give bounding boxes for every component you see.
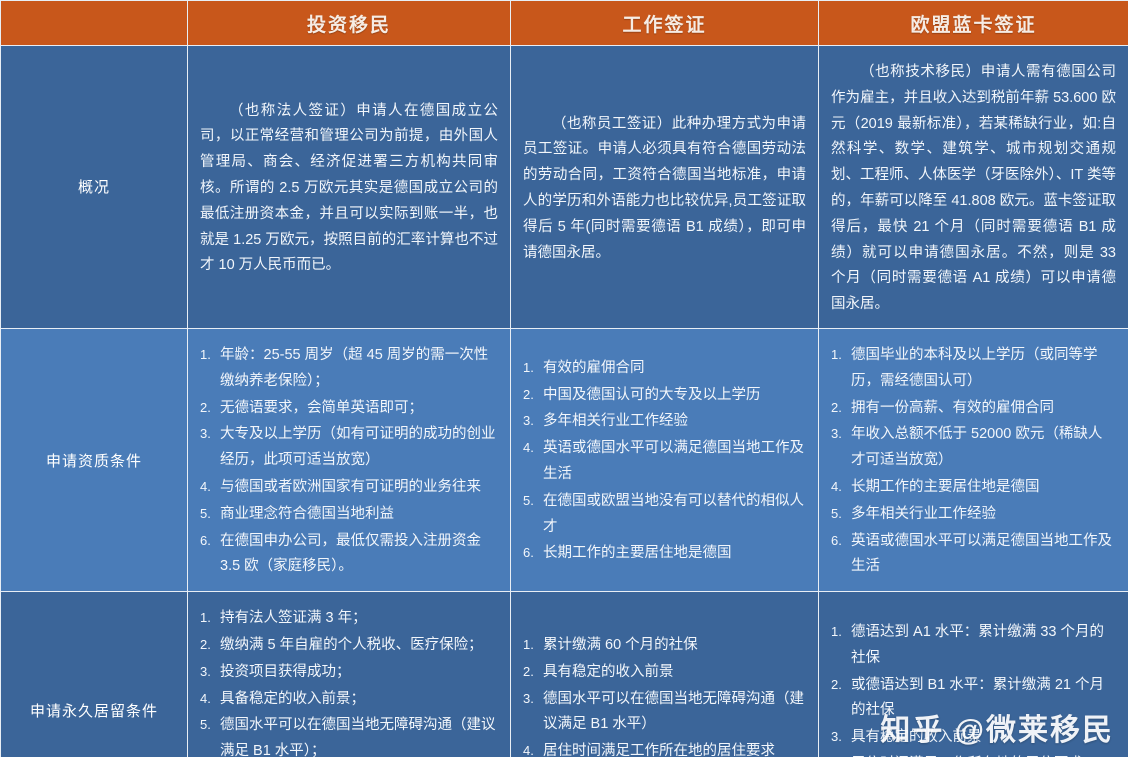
row-label-permanent-residence: 申请永久居留条件	[1, 592, 188, 757]
paragraph-text: （也称员工签证）此种办理方式为申请员工签证。申请人必须具有符合德国劳动法的劳动合…	[523, 112, 806, 267]
list-item-text: 拥有一份高薪、有效的雇佣合同	[851, 400, 1054, 416]
list-item-text: 缴纳满 5 年自雇的个人税收、医疗保险；	[220, 637, 483, 653]
list-item: 4.居住时间满足工作所在地的居住要求	[523, 739, 806, 757]
list-item: 4.具备稳定的收入前景；	[200, 687, 498, 713]
cell-qualification-investment: 1.年龄：25-55 周岁（超 45 周岁的需一次性缴纳养老保险）；2.无德语要…	[188, 328, 511, 591]
list-item-text: 长期工作的主要居住地是德国	[543, 545, 732, 561]
list-item-number: 3.	[523, 409, 543, 432]
list-item-text: 无德语要求，会简单英语即可；	[220, 400, 423, 416]
list-item-number: 5.	[523, 489, 543, 512]
list-item-number: 1.	[523, 356, 543, 379]
table-body: 概况 （也称法人签证）申请人在德国成立公司，以正常经营和管理公司为前提，由外国人…	[1, 46, 1128, 757]
list-item-number: 3.	[200, 660, 220, 683]
list-item-text: 持有法人签证满 3 年；	[220, 610, 367, 626]
list-item: 5.多年相关行业工作经验	[831, 502, 1116, 528]
list-item: 1.持有法人签证满 3 年；	[200, 606, 498, 632]
list-item: 2.中国及德国认可的大专及以上学历	[523, 383, 806, 409]
list-item-number: 1.	[831, 343, 851, 366]
comparison-table-page: 投资移民 工作签证 欧盟蓝卡签证 概况 （也称法人签证）申请人在德国成立公司，以…	[0, 0, 1128, 757]
header-col-eu-blue-card: 欧盟蓝卡签证	[819, 1, 1128, 46]
list-item-number: 4.	[200, 475, 220, 498]
list-item-number: 4.	[523, 436, 543, 459]
list-item-text: 具备稳定的收入前景；	[220, 691, 365, 707]
cell-overview-investment: （也称法人签证）申请人在德国成立公司，以正常经营和管理公司为前提，由外国人管理局…	[188, 46, 511, 329]
requirement-list: 1.年龄：25-55 周岁（超 45 周岁的需一次性缴纳养老保险）；2.无德语要…	[200, 343, 498, 580]
list-item: 3.多年相关行业工作经验	[523, 409, 806, 435]
list-item-number: 4.	[523, 739, 543, 757]
list-item-number: 4.	[200, 687, 220, 710]
header-col-investment-immigration: 投资移民	[188, 1, 511, 46]
list-item: 2.无德语要求，会简单英语即可；	[200, 396, 498, 422]
list-item-text: 或德语达到 B1 水平：累计缴满 21 个月的社保	[851, 677, 1104, 719]
list-item-text: 具有稳定的收入前景	[543, 664, 674, 680]
list-item-text: 在德国或欧盟当地没有可以替代的相似人才	[543, 493, 804, 535]
list-item: 1.德国毕业的本科及以上学历（或同等学历，需经德国认可）	[831, 343, 1116, 395]
row-label-overview: 概况	[1, 46, 188, 329]
list-item: 6.长期工作的主要居住地是德国	[523, 541, 806, 567]
list-item: 6.英语或德国水平可以满足德国当地工作及生活	[831, 529, 1116, 581]
list-item-number: 6.	[200, 529, 220, 552]
table-header: 投资移民 工作签证 欧盟蓝卡签证	[1, 1, 1128, 46]
list-item-number: 3.	[831, 422, 851, 445]
list-item: 3.德国水平可以在德国当地无障碍沟通（建议满足 B1 水平）	[523, 687, 806, 739]
list-item-number: 2.	[831, 396, 851, 419]
cell-pr-bluecard: 1.德语达到 A1 水平：累计缴满 33 个月的社保2.或德语达到 B1 水平：…	[819, 592, 1128, 757]
list-item-text: 具有稳定的收入前景	[851, 729, 982, 745]
list-item-number: 2.	[200, 396, 220, 419]
list-item-number: 2.	[523, 383, 543, 406]
cell-overview-bluecard: （也称技术移民）申请人需有德国公司作为雇主，并且收入达到税前年薪 53.600 …	[819, 46, 1128, 329]
list-item-text: 中国及德国认可的大专及以上学历	[543, 387, 761, 403]
list-item: 1.年龄：25-55 周岁（超 45 周岁的需一次性缴纳养老保险）；	[200, 343, 498, 395]
list-item: 4.英语或德国水平可以满足德国当地工作及生活	[523, 436, 806, 488]
cell-pr-investment: 1.持有法人签证满 3 年；2.缴纳满 5 年自雇的个人税收、医疗保险；3.投资…	[188, 592, 511, 757]
list-item: 3.投资项目获得成功；	[200, 660, 498, 686]
cell-overview-work: （也称员工签证）此种办理方式为申请员工签证。申请人必须具有符合德国劳动法的劳动合…	[511, 46, 819, 329]
list-item: 3.年收入总额不低于 52000 欧元（稀缺人才可适当放宽）	[831, 422, 1116, 474]
table-row: 申请资质条件 1.年龄：25-55 周岁（超 45 周岁的需一次性缴纳养老保险）…	[1, 328, 1128, 591]
list-item-text: 年收入总额不低于 52000 欧元（稀缺人才可适当放宽）	[851, 426, 1102, 468]
list-item-text: 在德国申办公司，最低仅需投入注册资金 3.5 欧（家庭移民）。	[220, 533, 481, 575]
header-corner-cell	[1, 1, 188, 46]
list-item-text: 商业理念符合德国当地利益	[220, 506, 394, 522]
list-item-number: 1.	[523, 633, 543, 656]
list-item-number: 2.	[523, 660, 543, 683]
list-item: 4.居住时间满足工作所在地的居住要求	[831, 752, 1116, 757]
header-col-work-visa: 工作签证	[511, 1, 819, 46]
list-item-text: 年龄：25-55 周岁（超 45 周岁的需一次性缴纳养老保险）；	[220, 347, 488, 389]
paragraph-text: （也称技术移民）申请人需有德国公司作为雇主，并且收入达到税前年薪 53.600 …	[831, 60, 1116, 318]
row-label-qualification: 申请资质条件	[1, 328, 188, 591]
list-item-number: 3.	[831, 725, 851, 748]
list-item-number: 5.	[831, 502, 851, 525]
list-item-text: 大专及以上学历（如有可证明的成功的创业经历，此项可适当放宽）	[220, 426, 496, 468]
requirement-list: 1.持有法人签证满 3 年；2.缴纳满 5 年自雇的个人税收、医疗保险；3.投资…	[200, 606, 498, 757]
list-item: 1.有效的雇佣合同	[523, 356, 806, 382]
list-item: 5.在德国或欧盟当地没有可以替代的相似人才	[523, 489, 806, 541]
table-row: 申请永久居留条件 1.持有法人签证满 3 年；2.缴纳满 5 年自雇的个人税收、…	[1, 592, 1128, 757]
requirement-list: 1.德语达到 A1 水平：累计缴满 33 个月的社保2.或德语达到 B1 水平：…	[831, 620, 1116, 757]
list-item: 3.具有稳定的收入前景	[831, 725, 1116, 751]
list-item-text: 累计缴满 60 个月的社保	[543, 637, 698, 653]
list-item-number: 5.	[200, 713, 220, 736]
list-item-number: 4.	[831, 752, 851, 757]
list-item: 2.具有稳定的收入前景	[523, 660, 806, 686]
list-item: 4.与德国或者欧洲国家有可证明的业务往来	[200, 475, 498, 501]
table-row: 概况 （也称法人签证）申请人在德国成立公司，以正常经营和管理公司为前提，由外国人…	[1, 46, 1128, 329]
paragraph-text: （也称法人签证）申请人在德国成立公司，以正常经营和管理公司为前提，由外国人管理局…	[200, 99, 498, 280]
cell-pr-work: 1.累计缴满 60 个月的社保2.具有稳定的收入前景3.德国水平可以在德国当地无…	[511, 592, 819, 757]
list-item-text: 与德国或者欧洲国家有可证明的业务往来	[220, 479, 481, 495]
list-item-number: 4.	[831, 475, 851, 498]
list-item-number: 6.	[831, 529, 851, 552]
list-item-number: 3.	[523, 687, 543, 710]
list-item: 6.在德国申办公司，最低仅需投入注册资金 3.5 欧（家庭移民）。	[200, 529, 498, 581]
list-item-text: 德国毕业的本科及以上学历（或同等学历，需经德国认可）	[851, 347, 1098, 389]
list-item: 2.拥有一份高薪、有效的雇佣合同	[831, 396, 1116, 422]
list-item: 2.缴纳满 5 年自雇的个人税收、医疗保险；	[200, 633, 498, 659]
visa-comparison-table: 投资移民 工作签证 欧盟蓝卡签证 概况 （也称法人签证）申请人在德国成立公司，以…	[0, 0, 1128, 757]
list-item-text: 英语或德国水平可以满足德国当地工作及生活	[851, 533, 1112, 575]
list-item-text: 居住时间满足工作所在地的居住要求	[543, 743, 775, 757]
list-item-number: 1.	[831, 620, 851, 643]
list-item-text: 德国水平可以在德国当地无障碍沟通（建议满足 B1 水平）	[543, 691, 804, 733]
list-item-text: 多年相关行业工作经验	[851, 506, 996, 522]
list-item-number: 3.	[200, 422, 220, 445]
list-item-text: 投资项目获得成功；	[220, 664, 351, 680]
requirement-list: 1.德国毕业的本科及以上学历（或同等学历，需经德国认可）2.拥有一份高薪、有效的…	[831, 343, 1116, 580]
list-item: 5.商业理念符合德国当地利益	[200, 502, 498, 528]
list-item: 4.长期工作的主要居住地是德国	[831, 475, 1116, 501]
list-item: 1.德语达到 A1 水平：累计缴满 33 个月的社保	[831, 620, 1116, 672]
list-item-number: 2.	[200, 633, 220, 656]
list-item-number: 5.	[200, 502, 220, 525]
list-item-number: 6.	[523, 541, 543, 564]
list-item-number: 2.	[831, 673, 851, 696]
cell-qualification-bluecard: 1.德国毕业的本科及以上学历（或同等学历，需经德国认可）2.拥有一份高薪、有效的…	[819, 328, 1128, 591]
requirement-list: 1.累计缴满 60 个月的社保2.具有稳定的收入前景3.德国水平可以在德国当地无…	[523, 633, 806, 757]
list-item-text: 长期工作的主要居住地是德国	[851, 479, 1040, 495]
list-item-number: 1.	[200, 343, 220, 366]
list-item-number: 1.	[200, 606, 220, 629]
cell-qualification-work: 1.有效的雇佣合同2.中国及德国认可的大专及以上学历3.多年相关行业工作经验4.…	[511, 328, 819, 591]
list-item-text: 多年相关行业工作经验	[543, 413, 688, 429]
list-item-text: 德国水平可以在德国当地无障碍沟通（建议满足 B1 水平）；	[220, 717, 496, 757]
list-item: 2.或德语达到 B1 水平：累计缴满 21 个月的社保	[831, 673, 1116, 725]
list-item: 5.德国水平可以在德国当地无障碍沟通（建议满足 B1 水平）；	[200, 713, 498, 757]
list-item-text: 有效的雇佣合同	[543, 360, 645, 376]
list-item: 3.大专及以上学历（如有可证明的成功的创业经历，此项可适当放宽）	[200, 422, 498, 474]
list-item-text: 英语或德国水平可以满足德国当地工作及生活	[543, 440, 804, 482]
header-row: 投资移民 工作签证 欧盟蓝卡签证	[1, 1, 1128, 46]
list-item-text: 德语达到 A1 水平：累计缴满 33 个月的社保	[851, 624, 1104, 666]
requirement-list: 1.有效的雇佣合同2.中国及德国认可的大专及以上学历3.多年相关行业工作经验4.…	[523, 356, 806, 567]
list-item: 1.累计缴满 60 个月的社保	[523, 633, 806, 659]
